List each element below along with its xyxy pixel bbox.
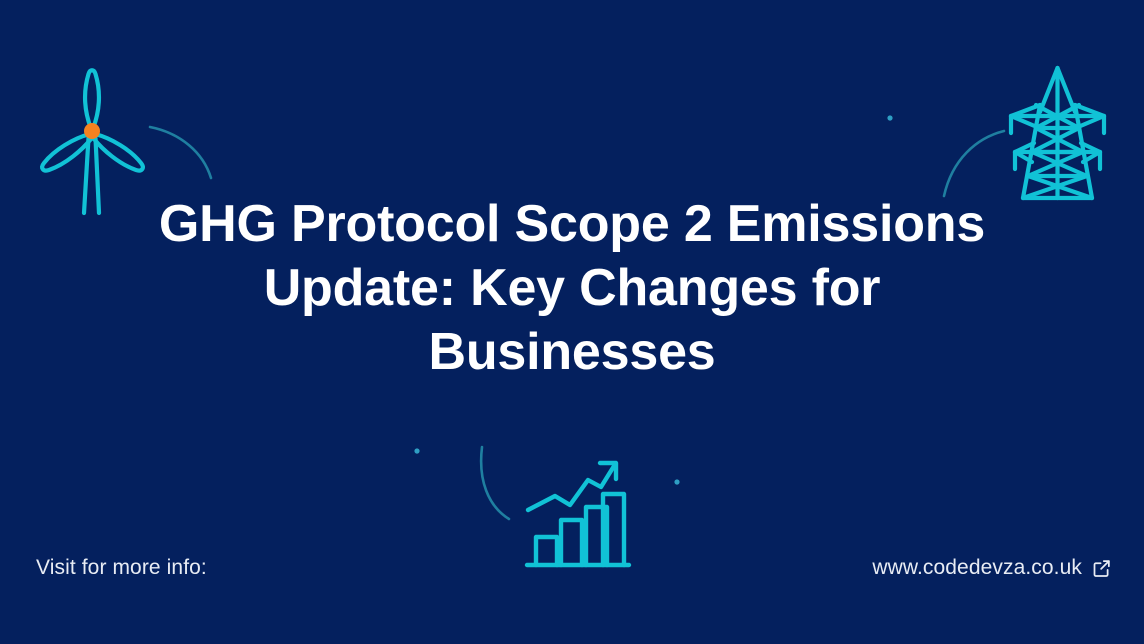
website-link[interactable]: www.codedevza.co.uk	[872, 548, 1112, 588]
page-title-line-3: Businesses	[152, 320, 992, 384]
presentation-slide: GHG Protocol Scope 2 Emissions Update: K…	[0, 0, 1144, 644]
external-link-icon[interactable]	[1091, 558, 1112, 579]
decorative-arc-right	[944, 131, 1004, 196]
power-transmission-tower-icon	[1011, 68, 1104, 198]
decorative-arc-left	[150, 127, 211, 178]
wind-turbine-hub	[84, 123, 100, 139]
website-url-label: www.codedevza.co.uk	[872, 548, 1082, 588]
decorative-dot-2	[414, 448, 419, 453]
page-title: GHG Protocol Scope 2 Emissions Update: K…	[152, 192, 992, 384]
decorative-arc-center	[481, 447, 509, 519]
decorative-dot-3	[674, 479, 679, 484]
decorative-dot-1	[887, 115, 892, 120]
wind-turbine-icon	[42, 70, 143, 213]
slide-footer: Visit for more info: www.codedevza.co.uk	[0, 548, 1144, 592]
page-title-line-2: Update: Key Changes for	[152, 256, 992, 320]
visit-prompt-label: Visit for more info:	[36, 548, 207, 588]
slide-title-block: GHG Protocol Scope 2 Emissions Update: K…	[152, 192, 992, 384]
page-title-line-1: GHG Protocol Scope 2 Emissions	[152, 192, 992, 256]
